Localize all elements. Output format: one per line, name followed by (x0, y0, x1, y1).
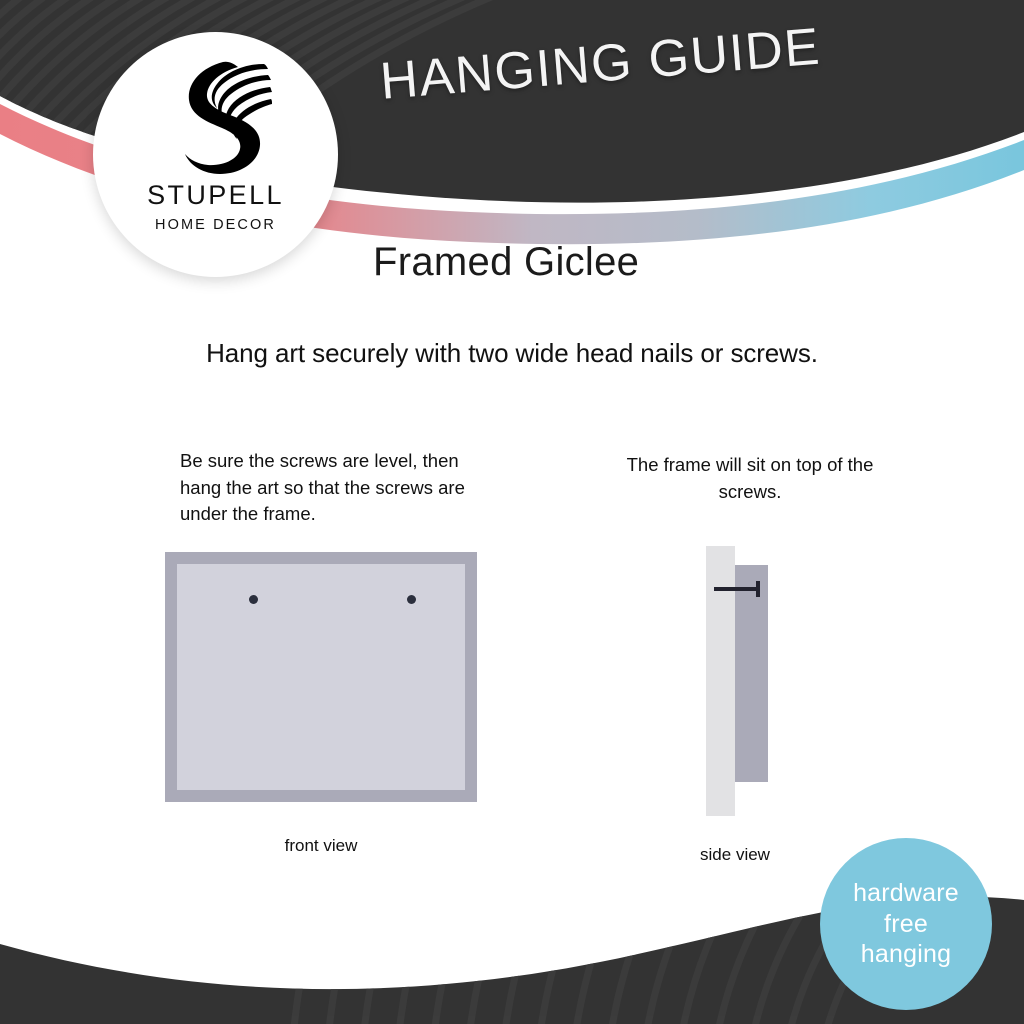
page-title: HANGING GUIDE (378, 17, 823, 112)
side-view-diagram (706, 546, 778, 818)
screw-dot-right (407, 595, 416, 604)
side-view-screw-shaft (714, 587, 759, 591)
hardware-free-hanging-badge: hardware free hanging (820, 838, 992, 1010)
badge-line-1: hardware (853, 878, 959, 909)
side-view-caption: The frame will sit on top of the screws. (600, 452, 900, 505)
product-type-title: Framed Giclee (373, 240, 639, 285)
screw-dot-left (249, 595, 258, 604)
front-view-caption: Be sure the screws are level, then hang … (180, 448, 480, 528)
side-view-label: side view (642, 845, 828, 865)
badge-line-2: free (884, 909, 928, 940)
front-view-art-panel (177, 564, 465, 790)
side-view-screw-head (756, 581, 760, 597)
logo-tagline: HOME DECOR (155, 218, 276, 233)
front-view-label: front view (171, 836, 471, 856)
main-instruction-text: Hang art securely with two wide head nai… (0, 338, 1024, 369)
logo-brand-name: STUPELL (147, 182, 284, 209)
badge-line-3: hanging (861, 939, 951, 970)
hanging-guide-infographic: STUPELL HOME DECOR HANGING GUIDE Framed … (0, 0, 1024, 1024)
swoosh-s-icon (160, 58, 272, 176)
side-view-frame (735, 565, 768, 782)
front-view-diagram (165, 552, 477, 802)
stupell-logo-badge: STUPELL HOME DECOR (93, 32, 338, 277)
